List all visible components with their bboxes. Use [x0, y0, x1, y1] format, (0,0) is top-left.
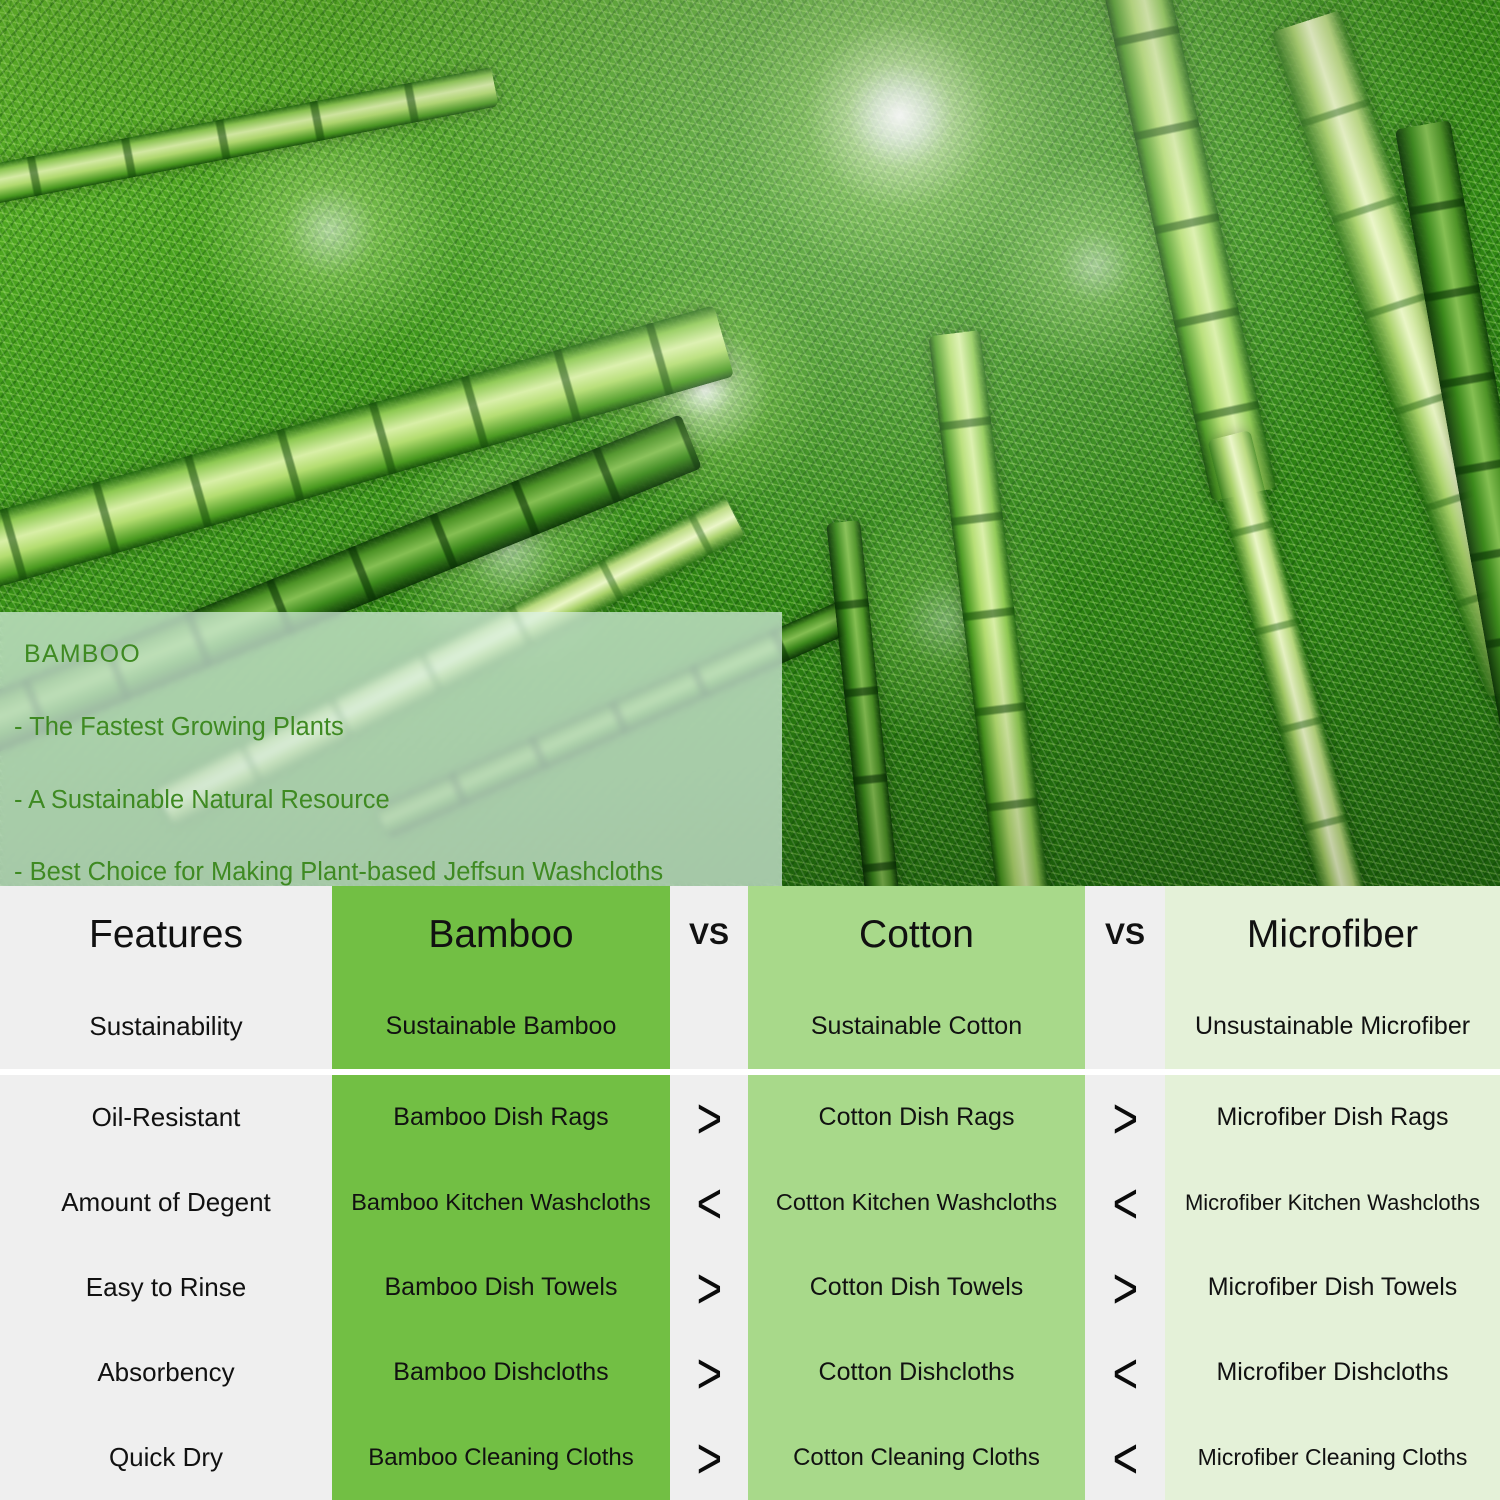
comparison-operator-icon: < [1112, 1429, 1138, 1487]
row-operator-2: < [1085, 1415, 1165, 1500]
header-cell-bamboo: Bamboo [332, 886, 670, 984]
row-feature-label: Amount of Degent [0, 1160, 332, 1245]
comparison-operator-icon: > [696, 1429, 722, 1487]
overlay-bullet-1: - The Fastest Growing Plants [14, 715, 782, 741]
row-cotton-value: Cotton Kitchen Washcloths [748, 1160, 1085, 1245]
product-comparison-infographic: BAMBOO - The Fastest Growing Plants - A … [0, 0, 1500, 1500]
row-feature-label: Oil-Resistant [0, 1075, 332, 1160]
row-operator-1: > [670, 1245, 748, 1330]
row-feature-label: Easy to Rinse [0, 1245, 332, 1330]
row-feature-label: Quick Dry [0, 1415, 332, 1500]
comparison-operator-icon: > [1112, 1089, 1138, 1147]
row-bamboo-value: Bamboo Kitchen Washcloths [332, 1160, 670, 1245]
row-bamboo-value: Sustainable Bamboo [332, 984, 670, 1069]
row-microfiber-value: Microfiber Dish Towels [1165, 1245, 1500, 1330]
bamboo-facts-overlay: BAMBOO - The Fastest Growing Plants - A … [0, 612, 782, 886]
row-cotton-value: Cotton Dish Towels [748, 1245, 1085, 1330]
overlay-bullet-2: - A Sustainable Natural Resource [14, 788, 782, 814]
table-row: Easy to Rinse Bamboo Dish Towels > Cotto… [0, 1245, 1500, 1330]
row-operator-1 [670, 984, 748, 1069]
row-operator-2: < [1085, 1160, 1165, 1245]
comparison-operator-icon: > [696, 1344, 722, 1402]
table-row: Oil-Resistant Bamboo Dish Rags > Cotton … [0, 1075, 1500, 1160]
row-cotton-value: Cotton Cleaning Cloths [748, 1415, 1085, 1500]
row-bamboo-value: Bamboo Cleaning Cloths [332, 1415, 670, 1500]
header-cell-vs-2: VS [1085, 886, 1165, 984]
row-microfiber-value: Unsustainable Microfiber [1165, 984, 1500, 1069]
row-bamboo-value: Bamboo Dishcloths [332, 1330, 670, 1415]
row-cotton-value: Sustainable Cotton [748, 984, 1085, 1069]
table-row: Quick Dry Bamboo Cleaning Cloths > Cotto… [0, 1415, 1500, 1500]
comparison-operator-icon: < [1112, 1344, 1138, 1402]
table-row: Sustainability Sustainable Bamboo Sustai… [0, 984, 1500, 1069]
table-row: Absorbency Bamboo Dishcloths > Cotton Di… [0, 1330, 1500, 1415]
row-microfiber-value: Microfiber Cleaning Cloths [1165, 1415, 1500, 1500]
row-cotton-value: Cotton Dishcloths [748, 1330, 1085, 1415]
row-operator-2: < [1085, 1330, 1165, 1415]
row-microfiber-value: Microfiber Dish Rags [1165, 1075, 1500, 1160]
header-cell-cotton: Cotton [748, 886, 1085, 984]
row-operator-1: > [670, 1415, 748, 1500]
comparison-operator-icon: > [696, 1259, 722, 1317]
row-bamboo-value: Bamboo Dish Towels [332, 1245, 670, 1330]
comparison-operator-icon: < [696, 1174, 722, 1232]
row-feature-label: Absorbency [0, 1330, 332, 1415]
bamboo-forest-photo: BAMBOO - The Fastest Growing Plants - A … [0, 0, 1500, 886]
comparison-operator-icon: > [1112, 1259, 1138, 1317]
overlay-title: BAMBOO [24, 640, 782, 669]
table-row: Amount of Degent Bamboo Kitchen Washclot… [0, 1160, 1500, 1245]
row-operator-1: < [670, 1160, 748, 1245]
row-cotton-value: Cotton Dish Rags [748, 1075, 1085, 1160]
row-operator-2 [1085, 984, 1165, 1069]
overlay-bullet-3: - Best Choice for Making Plant-based Jef… [14, 860, 782, 886]
header-cell-features: Features [0, 886, 332, 984]
header-cell-microfiber: Microfiber [1165, 886, 1500, 984]
row-operator-2: > [1085, 1245, 1165, 1330]
row-operator-1: > [670, 1075, 748, 1160]
row-microfiber-value: Microfiber Kitchen Washcloths [1165, 1160, 1500, 1245]
row-bamboo-value: Bamboo Dish Rags [332, 1075, 670, 1160]
row-microfiber-value: Microfiber Dishcloths [1165, 1330, 1500, 1415]
comparison-table: Features Bamboo VS Cotton VS Microfiber … [0, 886, 1500, 1500]
comparison-operator-icon: > [696, 1089, 722, 1147]
row-operator-2: > [1085, 1075, 1165, 1160]
row-operator-1: > [670, 1330, 748, 1415]
comparison-operator-icon: < [1112, 1174, 1138, 1232]
header-cell-vs-1: VS [670, 886, 748, 984]
table-header-row: Features Bamboo VS Cotton VS Microfiber [0, 886, 1500, 984]
row-feature-label: Sustainability [0, 984, 332, 1069]
